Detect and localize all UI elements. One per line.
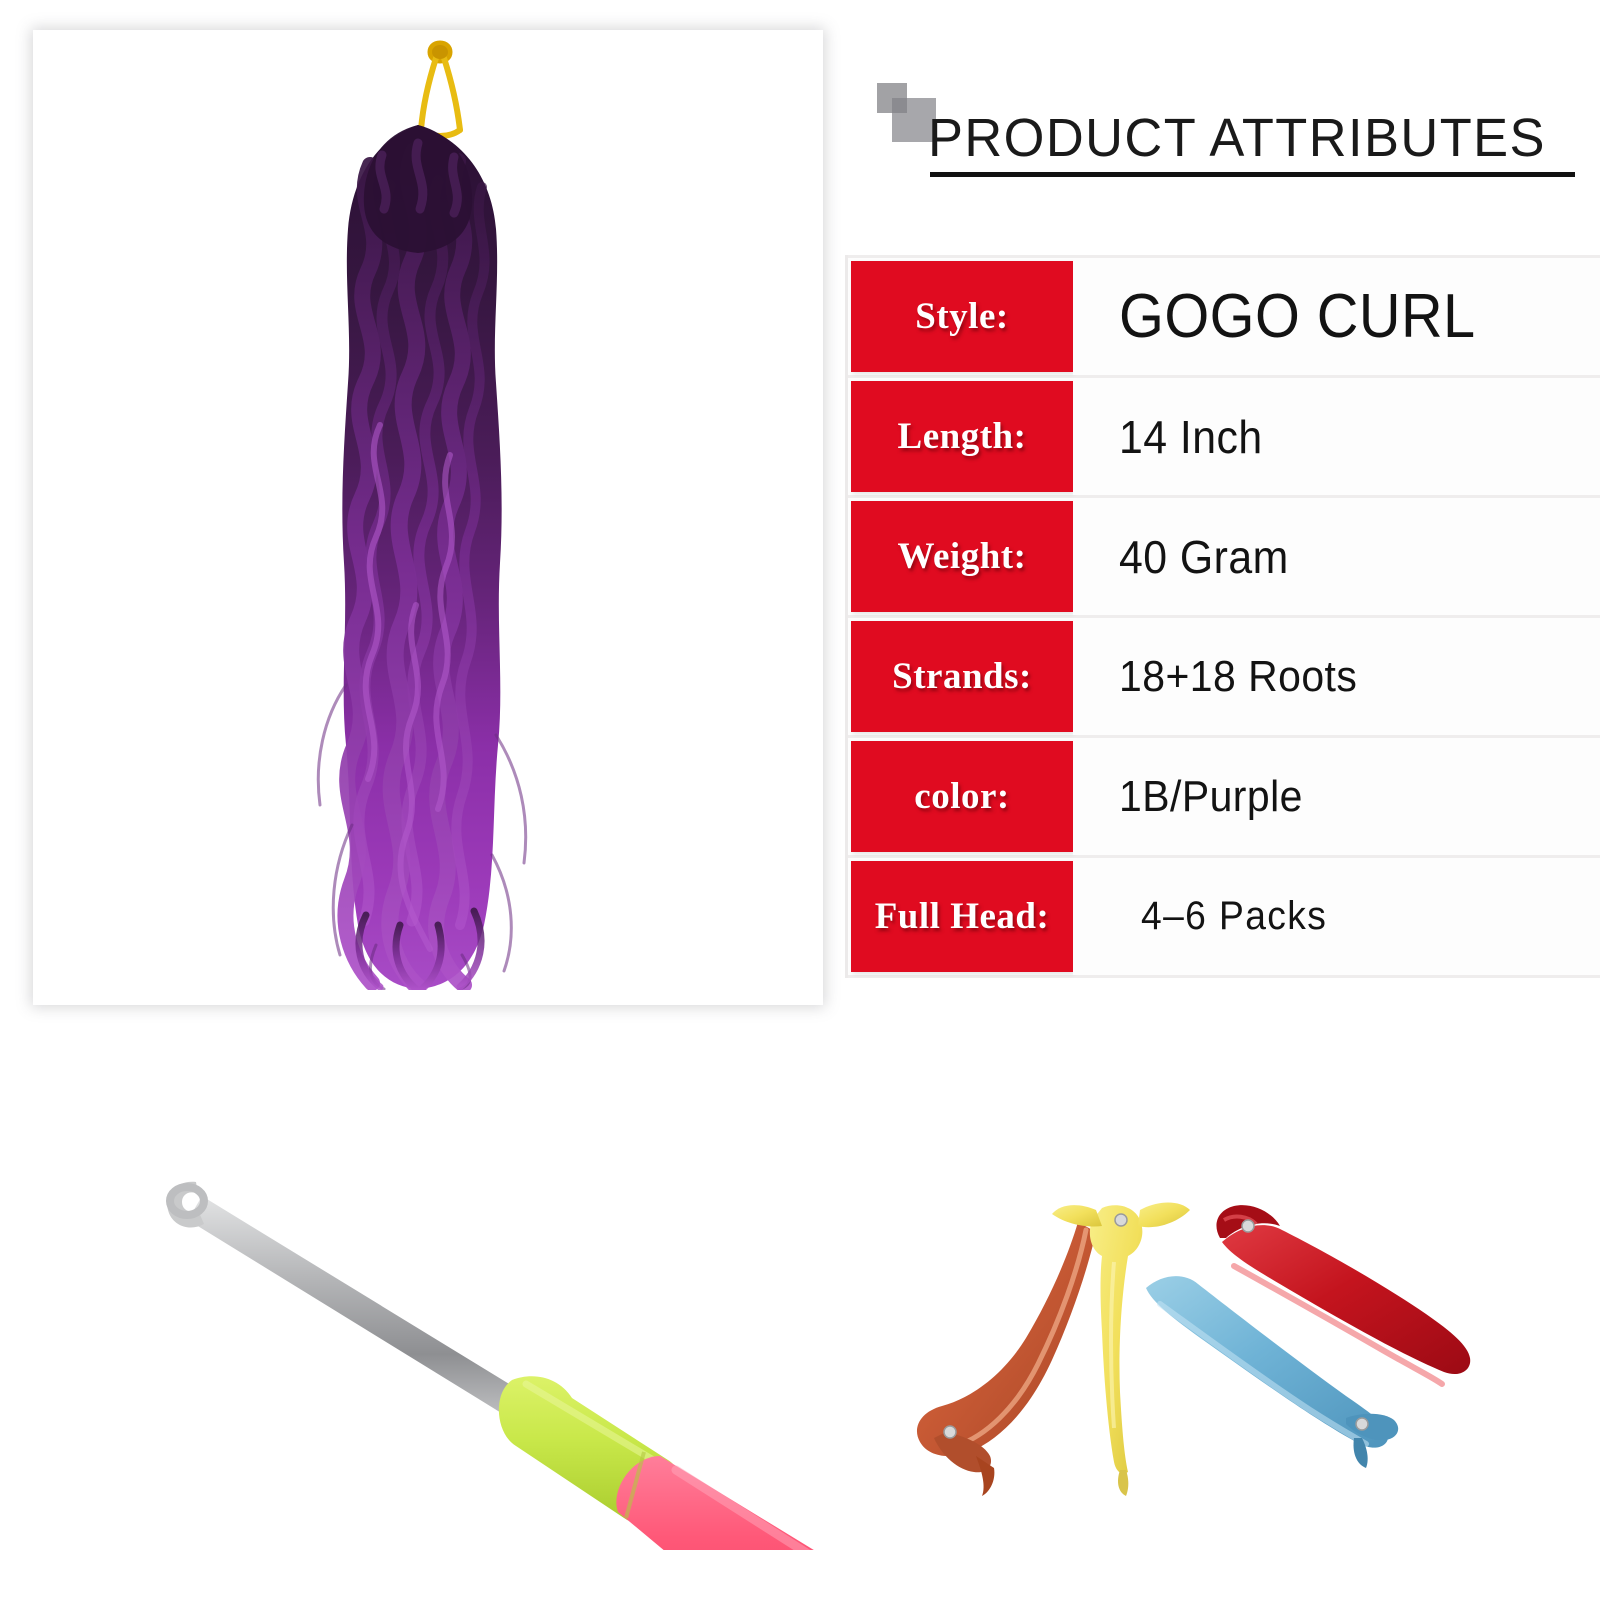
- product-photo: [33, 30, 823, 1005]
- title-underline: [930, 172, 1575, 177]
- accessories-section: [0, 1060, 1600, 1600]
- attribute-value-cell-color: 1B/Purple: [1073, 738, 1600, 855]
- attribute-label: Strands:: [892, 655, 1032, 698]
- attributes-header: PRODUCT ATTRIBUTES: [845, 55, 1600, 220]
- hair-clip-orange: [917, 1222, 1096, 1496]
- table-row: color: 1B/Purple: [848, 738, 1600, 858]
- attribute-label: color:: [914, 775, 1009, 818]
- attribute-label: Length:: [898, 415, 1027, 458]
- product-attributes-infographic: PRODUCT ATTRIBUTES Style: GOGO CURL Leng…: [0, 0, 1600, 1600]
- attributes-table: Style: GOGO CURL Length: 14 Inch Weight:: [845, 255, 1600, 978]
- product-attributes-section: PRODUCT ATTRIBUTES Style: GOGO CURL Leng…: [845, 55, 1600, 995]
- attribute-value-cell-full-head: 4–6 Packs: [1073, 858, 1600, 975]
- attribute-value-cell-weight: 40 Gram: [1073, 498, 1600, 615]
- attribute-label-cell-color: color:: [851, 741, 1073, 852]
- attribute-label: Weight:: [898, 535, 1027, 578]
- table-row: Weight: 40 Gram: [848, 498, 1600, 618]
- attribute-value: 40 Gram: [1119, 530, 1289, 584]
- page-title: PRODUCT ATTRIBUTES: [928, 107, 1546, 169]
- table-row: Full Head: 4–6 Packs: [848, 858, 1600, 978]
- attribute-label-cell-style: Style:: [851, 261, 1073, 372]
- hair-clips-graphic: [890, 1180, 1490, 1520]
- product-photo-panel: [33, 30, 823, 1005]
- attribute-value-cell-style: GOGO CURL: [1073, 258, 1600, 375]
- attribute-value: 4–6 Packs: [1141, 894, 1327, 939]
- attribute-value: 18+18 Roots: [1119, 652, 1357, 702]
- table-row: Length: 14 Inch: [848, 378, 1600, 498]
- attribute-label-cell-weight: Weight:: [851, 501, 1073, 612]
- attribute-value: 1B/Purple: [1119, 772, 1303, 822]
- attribute-value: 14 Inch: [1119, 410, 1263, 464]
- attribute-label: Style:: [915, 295, 1008, 338]
- latch-hook-tool-graphic: [140, 1170, 940, 1550]
- attribute-value-cell-strands: 18+18 Roots: [1073, 618, 1600, 735]
- attribute-label-cell-length: Length:: [851, 381, 1073, 492]
- hair-bundle-graphic: [248, 125, 608, 990]
- table-row: Strands: 18+18 Roots: [848, 618, 1600, 738]
- attribute-label-cell-strands: Strands:: [851, 621, 1073, 732]
- attribute-value: GOGO CURL: [1119, 281, 1476, 352]
- attribute-value-cell-length: 14 Inch: [1073, 378, 1600, 495]
- attribute-label: Full Head:: [875, 895, 1050, 938]
- attribute-label-cell-full-head: Full Head:: [851, 861, 1073, 972]
- table-row: Style: GOGO CURL: [848, 255, 1600, 378]
